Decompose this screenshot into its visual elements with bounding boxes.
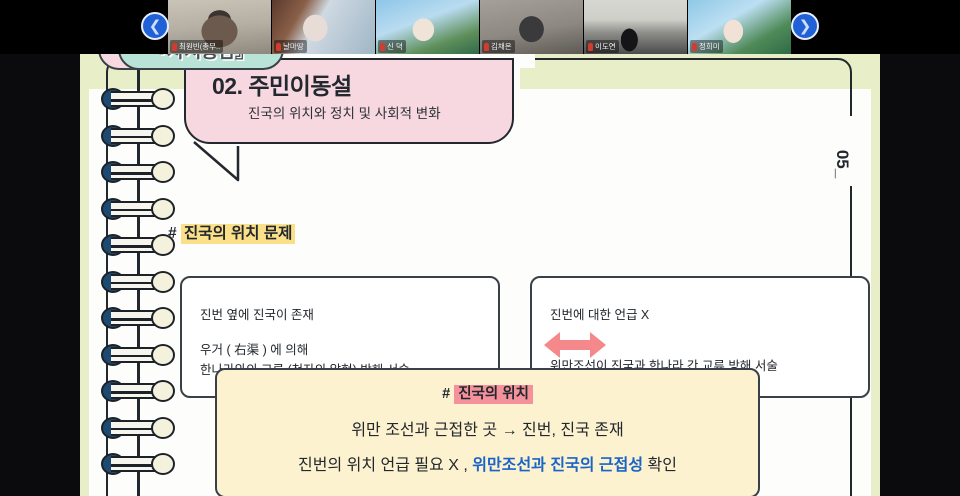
source-label-jachitonggam-text: 『자치통감』 xyxy=(149,54,254,63)
spiral-binding xyxy=(101,88,175,490)
binding-ring-icon xyxy=(101,417,175,439)
mic-muted-icon xyxy=(692,43,697,51)
card-line: 우거 ( 右渠 ) 에 의해 xyxy=(200,341,486,360)
screen: 02. 주민이동설 진국의 위치와 정치 및 사회적 변화 05_ # 진국의 … xyxy=(0,0,960,496)
summary-line-2-post: 확인 xyxy=(643,457,677,474)
summary-heading-marker: # xyxy=(442,386,450,402)
mic-muted-icon xyxy=(588,43,593,51)
participant-name-badge: 정희미 xyxy=(690,40,723,53)
mic-muted-icon xyxy=(484,43,489,51)
chevron-left-icon[interactable]: ❮ xyxy=(141,12,169,40)
binding-ring-icon xyxy=(101,88,175,110)
card-line: 진번에 대한 언급 X xyxy=(550,306,856,325)
section-heading-marker: # xyxy=(168,225,177,242)
participant-name-badge: 최원빈(총무.. xyxy=(170,40,223,53)
right-gutter xyxy=(880,54,960,496)
summary-line-2: 진번의 위치 언급 필요 X , 위만조선과 진국의 근접성 확인 xyxy=(217,451,758,475)
section-heading-text: 진국의 위치 문제 xyxy=(181,224,295,244)
summary-heading-text: 진국의 위치 xyxy=(454,385,533,404)
binding-ring-icon xyxy=(101,161,175,183)
participant-tile[interactable]: 최원빈(총무.. xyxy=(168,0,272,54)
participant-tiles: 최원빈(총무.. 날마땅 신 뎍 xyxy=(168,0,792,54)
mic-muted-icon xyxy=(172,43,177,51)
binding-ring-icon xyxy=(101,234,175,256)
summary-heading: # 진국의 위치 xyxy=(217,382,758,403)
binding-ring-icon xyxy=(101,307,175,329)
binding-ring-icon xyxy=(101,271,175,293)
mic-muted-icon xyxy=(380,43,385,51)
participant-name: 정희미 xyxy=(699,41,720,52)
double-headed-arrow-icon xyxy=(544,328,606,362)
participant-tile[interactable]: 날마땅 xyxy=(272,0,376,54)
summary-box: # 진국의 위치 위만 조선과 근접한 곳 → 진번, 진국 존재 진번의 위치… xyxy=(215,368,760,496)
slide-page-number: 05_ xyxy=(832,150,852,178)
summary-line-2-pre: 진번의 위치 언급 필요 X , xyxy=(298,457,472,474)
participant-tile[interactable]: 정희미 xyxy=(688,0,792,54)
participant-name-badge: 신 뎍 xyxy=(378,40,406,53)
participant-name-badge: 날마땅 xyxy=(274,40,307,53)
page-subtitle: 진국의 위치와 정치 및 사회적 변화 xyxy=(248,102,441,122)
participant-name: 최원빈(총무.. xyxy=(179,41,220,52)
section-heading: # 진국의 위치 문제 xyxy=(168,221,295,243)
participant-tile[interactable]: 이도연 xyxy=(584,0,688,54)
presentation-slide: 02. 주민이동설 진국의 위치와 정치 및 사회적 변화 05_ # 진국의 … xyxy=(80,54,880,496)
binding-ring-icon xyxy=(101,453,175,475)
chevron-right-icon[interactable]: ❯ xyxy=(791,12,819,40)
participant-name-badge: 김채온 xyxy=(482,40,515,53)
participant-tile[interactable]: 신 뎍 xyxy=(376,0,480,54)
binding-ring-icon xyxy=(101,344,175,366)
participant-name: 김채온 xyxy=(491,41,512,52)
participant-name: 신 뎍 xyxy=(387,41,403,52)
source-label-jachitonggam: 『자치통감』 xyxy=(118,54,284,70)
summary-line-2-emphasis: 위만조선과 진국의 근접성 xyxy=(472,457,643,474)
binding-ring-icon xyxy=(101,198,175,220)
left-gutter xyxy=(0,54,80,496)
participant-name: 날마땅 xyxy=(283,41,304,52)
page-title: 02. 주민이동설 xyxy=(212,67,352,101)
participant-name: 이도연 xyxy=(595,41,616,52)
participant-name-badge: 이도연 xyxy=(586,40,619,53)
binding-ring-icon xyxy=(101,125,175,147)
participant-tile[interactable]: 김채온 xyxy=(480,0,584,54)
slide-left-edge xyxy=(80,54,89,496)
card-line: 진번 옆에 진국이 존재 xyxy=(200,306,486,325)
summary-line-1: 위만 조선과 근접한 곳 → 진번, 진국 존재 xyxy=(217,416,758,440)
speech-bubble-tail-icon xyxy=(192,140,262,186)
mic-muted-icon xyxy=(276,43,281,51)
slide-right-edge xyxy=(871,54,880,496)
slide-title-bubble: 02. 주민이동설 진국의 위치와 정치 및 사회적 변화 xyxy=(184,58,514,144)
binding-ring-icon xyxy=(101,380,175,402)
participant-video-strip: ❮ ❯ 최원빈(총무.. 날마땅 신 뎍 xyxy=(0,0,960,54)
